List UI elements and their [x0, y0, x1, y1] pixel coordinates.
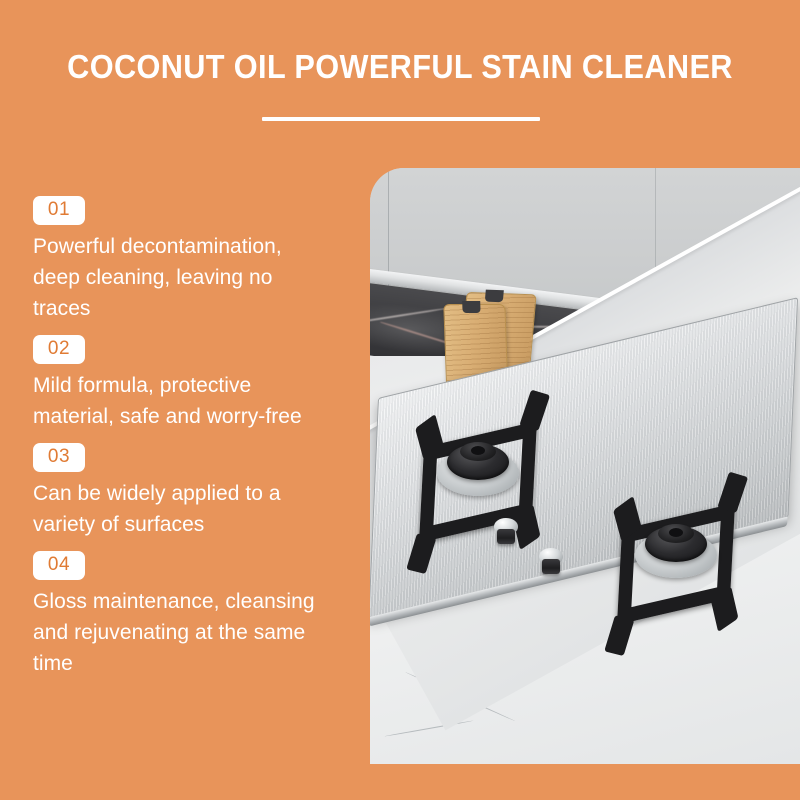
cutting-board-handle-notch [462, 301, 480, 313]
page-title: COCONUT OIL POWERFUL STAIN CLEANER [28, 48, 772, 86]
product-infographic-poster: COCONUT OIL POWERFUL STAIN CLEANER 01 Po… [0, 0, 800, 800]
feature-number-badge-04: 04 [33, 551, 85, 580]
feature-number-badge-02: 02 [33, 335, 85, 364]
list-item: 03 Can be widely applied to a variety of… [33, 443, 353, 540]
list-item: 02 Mild formula, protective material, sa… [33, 335, 353, 432]
feature-text-02: Mild formula, protective material, safe … [33, 370, 333, 432]
burner-igniter [471, 446, 485, 455]
marble-vein [370, 307, 450, 327]
cutting-board-handle-notch [485, 290, 504, 303]
feature-text-03: Can be widely applied to a variety of su… [33, 478, 333, 540]
header: COCONUT OIL POWERFUL STAIN CLEANER [0, 0, 800, 150]
countertop-vein [385, 720, 474, 737]
feature-text-01: Powerful decontamination, deep cleaning,… [33, 231, 333, 324]
burner-igniter [669, 528, 683, 537]
title-underline-rule [262, 117, 540, 121]
feature-text-04: Gloss maintenance, cleansing and rejuven… [33, 586, 333, 679]
knob-body [497, 529, 515, 544]
list-item: 04 Gloss maintenance, cleansing and reju… [33, 551, 353, 679]
feature-number-badge-01: 01 [33, 196, 85, 225]
photo-scene [370, 168, 800, 764]
knob-body [542, 559, 560, 574]
list-item: 01 Powerful decontamination, deep cleani… [33, 196, 353, 324]
product-photo [370, 168, 800, 764]
feature-number-badge-03: 03 [33, 443, 85, 472]
feature-list: 01 Powerful decontamination, deep cleani… [33, 196, 353, 690]
